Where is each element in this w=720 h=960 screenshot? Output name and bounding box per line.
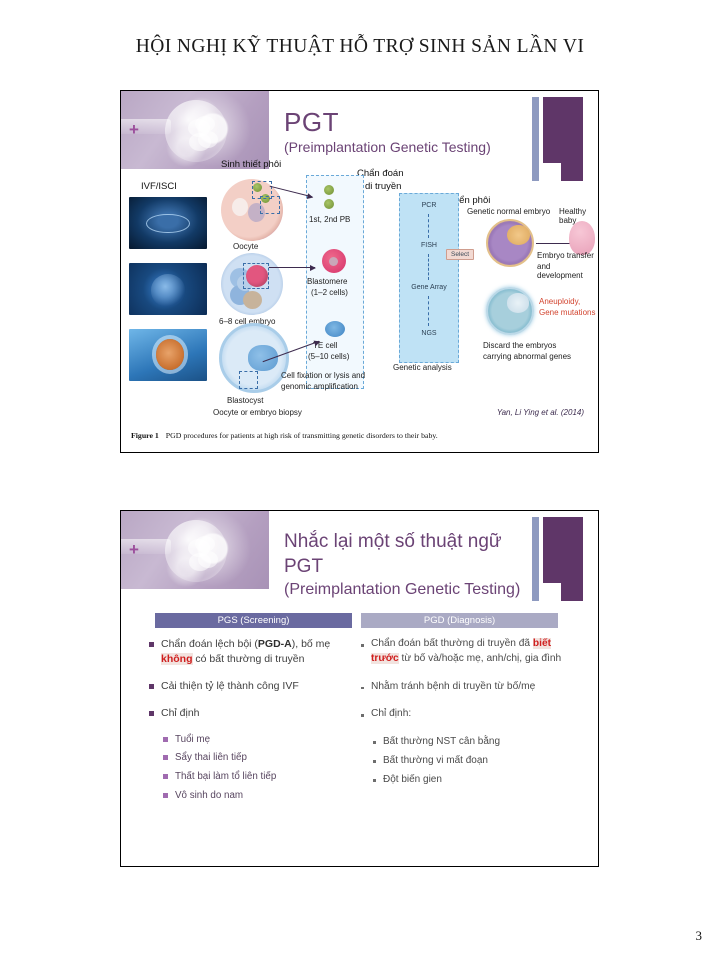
label-transfer-2: and development	[537, 262, 598, 280]
slide2-title-line2: PGT	[284, 556, 323, 578]
label-discard-1: Discard the embryos	[483, 341, 556, 350]
label-aneuploidy-2: Gene mutations	[539, 308, 595, 317]
abnormal-embryo-illustration	[486, 287, 534, 335]
label-te-count: (5–10 cells)	[308, 352, 349, 361]
te-cell-illustration	[325, 321, 345, 337]
page-number: 3	[696, 928, 703, 944]
list-item: Chỉ định	[147, 706, 352, 721]
genetic-analysis-box: PCR FISH Gene Array NGS	[399, 193, 459, 363]
slide1-subtitle: (Preimplantation Genetic Testing)	[284, 139, 491, 155]
analysis-step-ngs: NGS	[400, 330, 458, 337]
select-button[interactable]: Select	[446, 249, 474, 260]
list-item: Vô sinh do nam	[161, 789, 352, 803]
label-discard-2: carrying abnormal genes	[483, 352, 571, 361]
label-fixation-2: genomic amplification	[281, 382, 358, 391]
label-genetic-analysis: Genetic analysis	[393, 363, 452, 372]
column-header-pgd: PGD (Diagnosis)	[361, 613, 558, 628]
analysis-step-pcr: PCR	[400, 202, 458, 209]
figure-caption-text: PGD procedures for patients at high risk…	[166, 431, 438, 440]
label-diagnosis-2: di truyền	[365, 181, 401, 192]
label-aneuploidy-1: Aneuploidy,	[539, 297, 580, 306]
list-item: Tuổi mẹ	[161, 733, 352, 747]
slide1-title: PGT	[284, 107, 339, 138]
slide2-title-line3: (Preimplantation Genetic Testing)	[284, 581, 520, 599]
label-fixation-1: Cell fixation or lysis and	[281, 371, 365, 380]
list-item: Sẩy thai liên tiếp	[161, 751, 352, 765]
list-item: Cải thiện tỷ lệ thành công IVF	[147, 679, 352, 694]
label-biopsy: Sinh thiết phôi	[221, 159, 281, 170]
deco-thin-bar-2	[532, 517, 539, 601]
thumbnail-oocyte-sperm	[129, 263, 207, 315]
label-transfer-1: Embryo transfer	[537, 251, 594, 260]
figure-caption-label: Figure 1	[131, 431, 159, 440]
plus-icon-2: +	[129, 541, 139, 558]
label-blastomere: Blastomere	[307, 277, 347, 286]
slide2-title-line1: Nhắc lại một số thuật ngữ	[284, 531, 502, 553]
thumbnail-ivf-dish	[129, 197, 207, 249]
normal-embryo-illustration	[486, 219, 534, 267]
pgd-procedure-figure: IVF/ISCI Sinh thiết phôi Chẩn đoán di tr…	[121, 171, 598, 421]
figure-caption: Figure 1PGD procedures for patients at h…	[131, 431, 438, 440]
list-item: Đột biến gien	[369, 773, 567, 787]
polar-body-2	[324, 199, 334, 209]
healthy-baby-illustration	[569, 221, 595, 255]
label-biopsy-caption: Oocyte or embryo biopsy	[213, 408, 302, 417]
list-item: Nhằm tránh bệnh di truyền từ bố/mẹ	[357, 680, 567, 695]
slide-banner-image: +	[121, 91, 269, 169]
blastomere-illustration	[322, 249, 346, 273]
embryo-illustration	[165, 100, 227, 162]
arrow-blastomere-biopsy	[269, 267, 315, 268]
label-normal-embryo: Genetic normal embryo	[467, 207, 550, 216]
list-item: Chỉ định:	[357, 707, 567, 722]
list-item: Bất thường vi mất đoạn	[369, 754, 567, 768]
column-header-pgs: PGS (Screening)	[155, 613, 352, 628]
figure-attribution: Yan, Li Ying et al. (2014)	[497, 408, 584, 417]
analysis-step-gene-array: Gene Array	[400, 284, 458, 291]
pgs-column: Chẩn đoán lệch bội (PGD-A), bố mẹ không …	[147, 637, 352, 807]
deco-thin-bar	[532, 97, 539, 181]
slide-1-pgt[interactable]: + PGT (Preimplantation Genetic Testing) …	[120, 90, 599, 453]
polar-body-1	[324, 185, 334, 195]
label-blastomere-count: (1–2 cells)	[311, 288, 348, 297]
embryo-illustration-2	[165, 520, 227, 582]
analysis-step-fish: FISH	[400, 242, 458, 249]
plus-icon: +	[129, 121, 139, 138]
thumbnail-icsi	[129, 329, 207, 381]
list-item: Chẩn đoán lệch bội (PGD-A), bố mẹ không …	[147, 637, 352, 667]
label-oocyte: Oocyte	[233, 242, 258, 251]
slide-decoration-2	[530, 513, 592, 605]
deco-notch-2	[543, 583, 561, 601]
label-pb: 1st, 2nd PB	[309, 215, 350, 224]
label-ivf-icsi: IVF/ISCI	[141, 181, 177, 192]
biopsy-box-pb2	[260, 196, 280, 214]
list-item: Bất thường NST cân bằng	[369, 735, 567, 749]
label-blastocyst: Blastocyst	[227, 396, 263, 405]
biopsy-box-blastomere	[243, 263, 269, 289]
biopsy-box-te	[239, 371, 258, 389]
list-item: Chẩn đoán bất thường di truyền đã biết t…	[357, 637, 567, 667]
slide-2-terminology[interactable]: + Nhắc lại một số thuật ngữ PGT (Preimpl…	[120, 510, 599, 867]
page-title: HỘI NGHỊ KỸ THUẬT HỖ TRỢ SINH SẢN LẦN VI	[0, 36, 720, 58]
slide-banner-image-2: +	[121, 511, 269, 589]
list-item: Thất bại làm tổ liên tiếp	[161, 770, 352, 784]
pgd-column: Chẩn đoán bất thường di truyền đã biết t…	[357, 637, 567, 792]
